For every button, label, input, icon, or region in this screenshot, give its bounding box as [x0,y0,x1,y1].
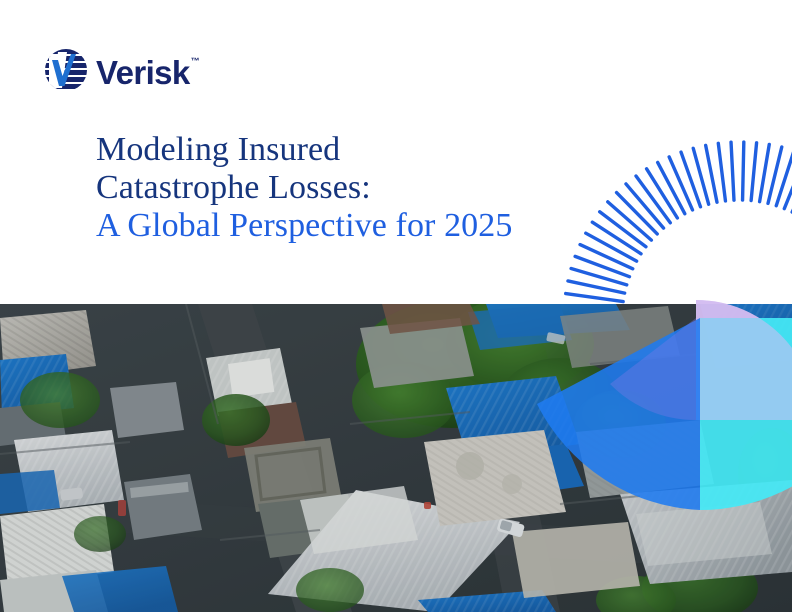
verisk-logo-lockup[interactable]: Verisk ™ [44,48,200,92]
title-line-3: A Global Perspective for 2025 [96,207,616,245]
title-line-2: Catastrophe Losses: [96,169,616,207]
report-cover-page: Verisk ™ Modeling Insured Catastrophe Lo… [0,0,792,612]
title-line-1: Modeling Insured [96,131,616,169]
cover-title: Modeling Insured Catastrophe Losses: A G… [96,131,616,245]
verisk-wordmark: Verisk [96,56,190,89]
cover-photograph [0,304,792,612]
verisk-circle-checkmark-logo-icon [44,48,88,92]
aerial-city-photograph [0,304,792,612]
trademark-symbol: ™ [191,57,200,66]
